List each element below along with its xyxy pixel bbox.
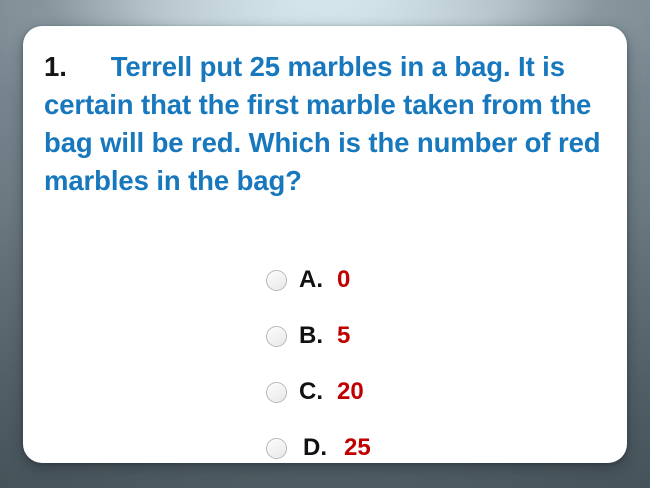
radio-button-icon-a[interactable] xyxy=(266,270,287,291)
radio-button-icon-b[interactable] xyxy=(266,326,287,347)
slide-background: 1.Terrell put 25 marbles in a bag. It is… xyxy=(0,0,650,488)
answer-option-letter-b: B. xyxy=(299,322,323,350)
answer-option-a[interactable]: A. 0 xyxy=(23,252,627,308)
question-block: 1.Terrell put 25 marbles in a bag. It is… xyxy=(44,48,609,200)
answer-option-c[interactable]: C. 20 xyxy=(23,364,627,420)
answer-option-letter-d: D. xyxy=(303,434,327,462)
content-card: 1.Terrell put 25 marbles in a bag. It is… xyxy=(23,26,627,463)
answer-option-letter-a: A. xyxy=(299,266,323,294)
answer-option-value-c: 20 xyxy=(337,378,364,406)
answer-option-d[interactable]: D. 25 xyxy=(23,420,627,476)
answer-option-letter-c: C. xyxy=(299,378,323,406)
radio-button-icon-c[interactable] xyxy=(266,382,287,403)
answer-options-list: A. 0 B. 5 C. 20 D. 25 xyxy=(23,252,627,476)
answer-option-value-b: 5 xyxy=(337,322,350,350)
question-text: Terrell put 25 marbles in a bag. It is c… xyxy=(44,51,600,196)
answer-option-b[interactable]: B. 5 xyxy=(23,308,627,364)
answer-option-value-d: 25 xyxy=(344,434,371,462)
answer-option-value-a: 0 xyxy=(337,266,350,294)
radio-button-icon-d[interactable] xyxy=(266,438,287,459)
question-number: 1. xyxy=(44,51,67,82)
